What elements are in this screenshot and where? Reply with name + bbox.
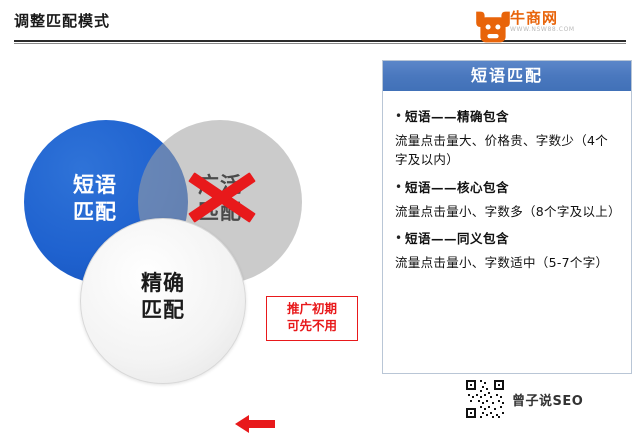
title-divider-thin — [14, 43, 626, 44]
phrase-match-panel: 短语匹配 • 短语——精确包含 流量点击量大、价格贵、字数少（4个字及以内） •… — [382, 60, 632, 374]
qr-code-icon — [464, 378, 506, 420]
red-x-icon — [185, 168, 255, 224]
list-item-desc: 流量点击量大、价格贵、字数少（4个字及以内） — [395, 131, 619, 170]
panel-body: • 短语——精确包含 流量点击量大、价格贵、字数少（4个字及以内） • 短语——… — [383, 91, 631, 373]
list-item: • 短语——同义包含 — [395, 230, 619, 247]
slide: 调整匹配模式 牛商网 WWW.NSW88.COM 短语 匹配 广泛 — [0, 0, 640, 425]
footer-watermark: 曾子说SEO — [464, 378, 636, 422]
page-title: 调整匹配模式 — [14, 10, 110, 31]
bullet-icon: • — [395, 108, 405, 125]
list-item: • 短语——核心包含 — [395, 179, 619, 196]
exact-match-label: 精确 匹配 — [102, 270, 224, 324]
list-item-heading: 短语——核心包含 — [405, 179, 509, 196]
list-item: • 短语——精确包含 — [395, 108, 619, 125]
brand-logo: 牛商网 WWW.NSW88.COM — [472, 6, 622, 40]
callout-note-line2: 可先不用 — [269, 318, 355, 335]
bullet-icon: • — [395, 230, 405, 247]
list-item-heading: 短语——精确包含 — [405, 108, 509, 125]
phrase-match-label-line1: 短语 — [40, 172, 150, 199]
callout-note: 推广初期 可先不用 — [266, 296, 358, 341]
list-item-desc: 流量点击量小、字数适中（5-7个字） — [395, 253, 619, 272]
bull-icon — [472, 6, 502, 34]
footer-text: 曾子说SEO — [512, 390, 583, 409]
logo-subtext: WWW.NSW88.COM — [510, 26, 575, 33]
logo-name: 牛商网 — [510, 7, 558, 28]
red-arrow-icon — [235, 415, 275, 433]
phrase-match-label: 短语 匹配 — [40, 172, 150, 226]
phrase-match-label-line2: 匹配 — [40, 199, 150, 226]
callout-note-line1: 推广初期 — [269, 301, 355, 318]
panel-title: 短语匹配 — [383, 61, 631, 91]
list-item-heading: 短语——同义包含 — [405, 230, 509, 247]
exact-match-label-line1: 精确 — [102, 270, 224, 297]
exact-match-label-line2: 匹配 — [102, 297, 224, 324]
list-item-desc: 流量点击量小、字数多（8个字及以上） — [395, 202, 619, 221]
title-divider — [14, 40, 626, 42]
bullet-icon: • — [395, 179, 405, 196]
